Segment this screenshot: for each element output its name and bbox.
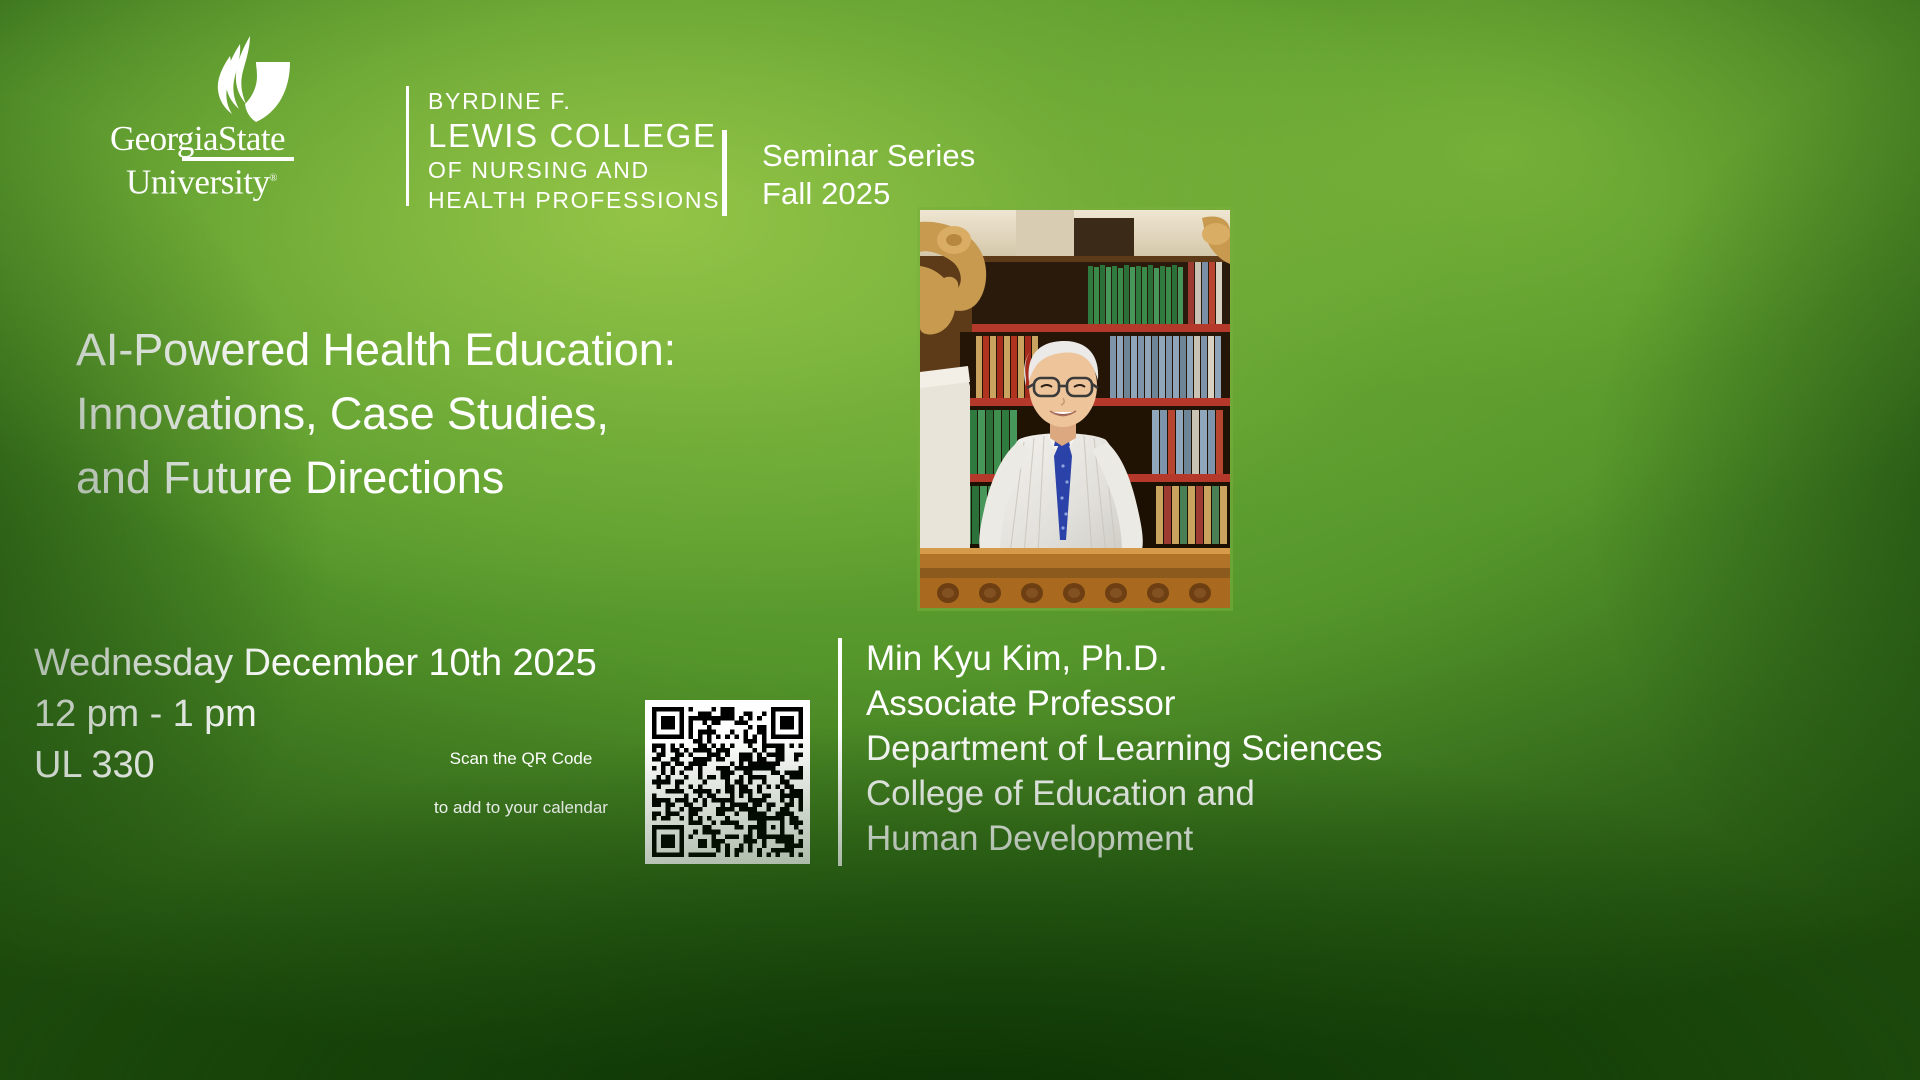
seminar-series-block: Seminar Series Fall 2025 bbox=[762, 137, 975, 213]
speaker-rank: Associate Professor bbox=[866, 681, 1382, 726]
event-date: Wednesday December 10th 2025 bbox=[34, 638, 597, 689]
talk-title-line-1: AI-Powered Health Education: bbox=[76, 318, 876, 382]
event-time: 12 pm - 1 pm bbox=[34, 689, 597, 740]
header-divider-2 bbox=[722, 130, 727, 216]
talk-title-line-2: Innovations, Case Studies, bbox=[76, 382, 876, 446]
registered-trademark-symbol: ® bbox=[270, 173, 277, 184]
gsu-wordmark: GeorgiaState University® bbox=[110, 122, 300, 201]
seminar-flyer: GeorgiaState University® BYRDINE F. LEWI… bbox=[0, 0, 1920, 1080]
speaker-info: Min Kyu Kim, Ph.D. Associate Professor D… bbox=[866, 636, 1382, 861]
seminar-term-label: Fall 2025 bbox=[762, 175, 975, 213]
qr-caption: Scan the QR Code to add to your calendar bbox=[410, 748, 632, 819]
header-logo-lockup: GeorgiaState University® BYRDINE F. LEWI… bbox=[110, 34, 300, 194]
header-divider-1 bbox=[406, 86, 409, 206]
georgia-state-university-logo: GeorgiaState University® bbox=[110, 34, 300, 186]
speaker-photo bbox=[920, 210, 1230, 608]
speaker-department: Department of Learning Sciences bbox=[866, 726, 1382, 771]
college-line-byrdine: BYRDINE F. bbox=[428, 86, 728, 116]
talk-title: AI-Powered Health Education: Innovations… bbox=[76, 318, 876, 510]
qr-code[interactable] bbox=[645, 700, 810, 864]
qr-code-canvas[interactable] bbox=[652, 707, 803, 857]
qr-caption-line-2: to add to your calendar bbox=[410, 797, 632, 819]
college-name-block: BYRDINE F. LEWIS COLLEGE OF NURSING AND … bbox=[428, 86, 728, 215]
college-line-nursing: OF NURSING AND bbox=[428, 155, 728, 185]
college-line-lewis-college: LEWIS COLLEGE bbox=[428, 116, 728, 155]
speaker-name: Min Kyu Kim, Ph.D. bbox=[866, 636, 1382, 681]
gsu-flame-torch-icon bbox=[206, 34, 292, 126]
seminar-series-label: Seminar Series bbox=[762, 137, 975, 175]
qr-caption-line-1: Scan the QR Code bbox=[410, 748, 632, 770]
college-line-health-professions: HEALTH PROFESSIONS bbox=[428, 185, 728, 215]
gsu-wordmark-line1: GeorgiaState bbox=[110, 122, 300, 156]
speaker-college-line-2: Human Development bbox=[866, 816, 1382, 861]
speaker-divider bbox=[838, 638, 842, 866]
speaker-portrait-library-image bbox=[920, 210, 1230, 608]
speaker-college-line-1: College of Education and bbox=[866, 771, 1382, 816]
gsu-wordmark-line2: University® bbox=[126, 161, 300, 201]
talk-title-line-3: and Future Directions bbox=[76, 446, 876, 510]
